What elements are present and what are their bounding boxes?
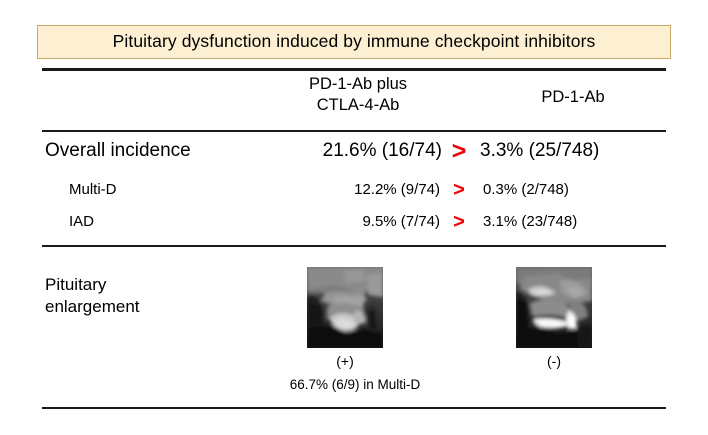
mri-caption-right: (-) [504, 353, 604, 369]
mri-caption-left: (+) [295, 353, 395, 369]
table-row: IAD 9.5% (7/74) > 3.1% (23/748) [42, 210, 666, 238]
slide-root: Pituitary dysfunction induced by immune … [0, 0, 708, 435]
table-body: Overall incidence 21.6% (16/74) > 3.3% (… [42, 133, 666, 243]
column-header-mono: PD-1-Ab [478, 87, 668, 108]
mri-pituitary-normal-image [516, 267, 592, 348]
table-rule-bottom [42, 407, 666, 409]
column-header-combo: PD-1-Ab plus CTLA-4-Ab [258, 74, 458, 116]
cell-combo-iad: 9.5% (7/74) [242, 213, 440, 230]
cell-combo-overall-incidence: 21.6% (16/74) [242, 140, 442, 162]
comparator-greater-than-icon: > [444, 137, 474, 166]
cell-mono-iad: 3.1% (23/748) [483, 213, 577, 230]
table-row: Overall incidence 21.6% (16/74) > 3.3% (… [42, 139, 666, 173]
row-label-overall-incidence: Overall incidence [45, 140, 191, 162]
cell-combo-multi-d: 12.2% (9/74) [242, 181, 440, 198]
mri-pituitary-enlarged-image [307, 267, 383, 348]
imaging-section-label: Pituitary enlargement [45, 274, 140, 319]
cell-mono-overall-incidence: 3.3% (25/748) [480, 140, 599, 162]
comparator-greater-than-icon: > [444, 211, 474, 234]
table-rule-data [42, 245, 666, 247]
comparator-greater-than-icon: > [444, 179, 474, 202]
row-label-multi-d: Multi-D [69, 181, 117, 198]
table-rule-header [42, 130, 666, 132]
table-column-headers: PD-1-Ab plus CTLA-4-Ab PD-1-Ab [42, 70, 666, 128]
cell-mono-multi-d: 0.3% (2/748) [483, 181, 569, 198]
table-row: Multi-D 12.2% (9/74) > 0.3% (2/748) [42, 178, 666, 206]
page-title: Pituitary dysfunction induced by immune … [113, 33, 596, 51]
row-label-iad: IAD [69, 213, 94, 230]
imaging-section: Pituitary enlargement [42, 248, 666, 406]
title-banner: Pituitary dysfunction induced by immune … [37, 25, 671, 59]
imaging-note: 66.7% (6/9) in Multi-D [212, 377, 498, 392]
